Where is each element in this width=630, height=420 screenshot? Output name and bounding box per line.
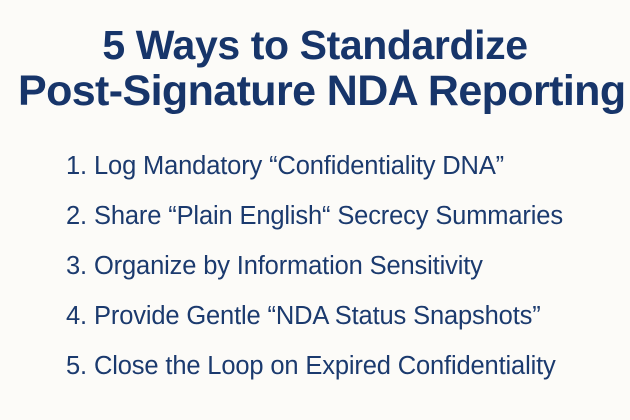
list-item: 2. Share “Plain English“ Secrecy Summari…	[66, 191, 612, 241]
list-item-number: 1.	[66, 141, 94, 191]
list-item-number: 5.	[66, 341, 94, 391]
list-item: 1. Log Mandatory “Confidentiality DNA”	[66, 141, 612, 191]
list-item-number: 2.	[66, 191, 94, 241]
list-item-label: Log Mandatory “Confidentiality DNA”	[94, 141, 504, 191]
list-item-label: Close the Loop on Expired Confidentialit…	[94, 341, 556, 391]
title-line-primary: 5 Ways to Standardize	[18, 22, 612, 68]
list-item-label: Provide Gentle “NDA Status Snapshots”	[94, 291, 541, 341]
list-item-number: 4.	[66, 291, 94, 341]
list-item: 3. Organize by Information Sensitivity	[66, 241, 612, 291]
list-item-label: Share “Plain English“ Secrecy Summaries	[94, 191, 563, 241]
list-item: 4. Provide Gentle “NDA Status Snapshots”	[66, 291, 612, 341]
tips-list: 1. Log Mandatory “Confidentiality DNA” 2…	[18, 141, 612, 391]
poster-canvas: 5 Ways to Standardize Post-Signature NDA…	[0, 0, 630, 420]
page-title: 5 Ways to Standardize Post-Signature NDA…	[18, 22, 612, 115]
title-line-secondary: Post-Signature NDA Reporting	[18, 68, 612, 115]
list-item-label: Organize by Information Sensitivity	[94, 241, 483, 291]
list-item: 5. Close the Loop on Expired Confidentia…	[66, 341, 612, 391]
list-item-number: 3.	[66, 241, 94, 291]
